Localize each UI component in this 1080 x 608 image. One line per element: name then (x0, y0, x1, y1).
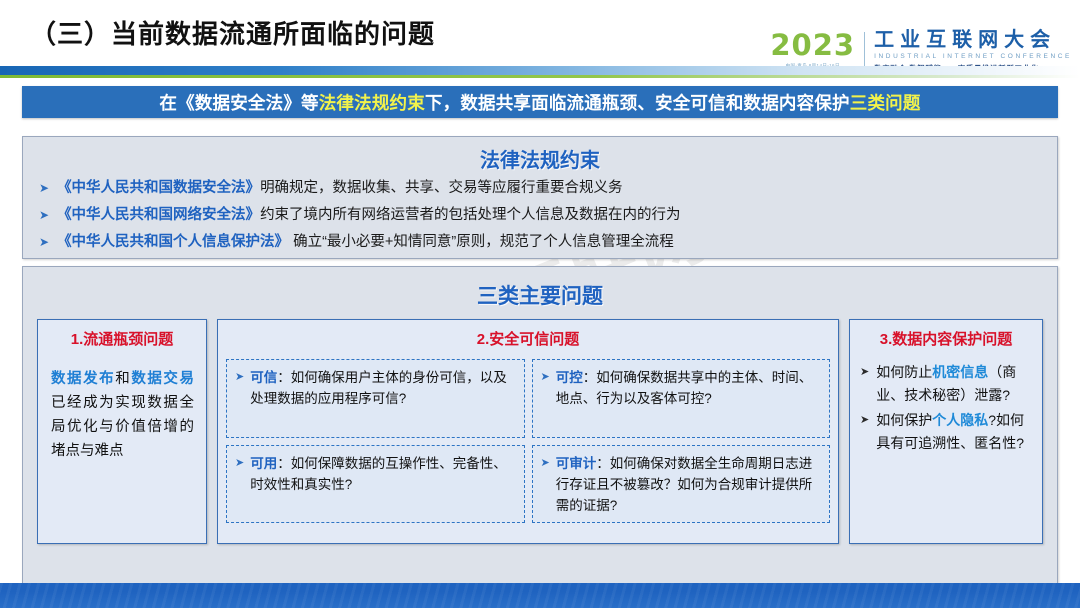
cell-key: 可信 (250, 370, 277, 385)
cell-key: 可用 (250, 456, 277, 471)
headline-banner: 在《数据安全法》等法律法规约束下，数据共享面临流通瓶颈、安全可信和数据内容保护三… (22, 86, 1058, 118)
r-highlight: 机密信息 (932, 364, 988, 380)
list-item: ➤ 《中华人民共和国个人信息保护法》 确立“最小必要+知情同意”原则，规范了个人… (39, 233, 1043, 251)
issues-columns: 1.流通瓶颈问题 数据发布和数据交易已经成为实现数据全局优化与价值倍增的堵点与难… (37, 319, 1043, 544)
chevron-right-icon: ➤ (860, 365, 869, 378)
r-pre: 如何防止 (876, 364, 932, 380)
issues-panel-title: 三类主要问题 (23, 280, 1057, 310)
headline-banner-text: 在《数据安全法》等法律法规约束下，数据共享面临流通瓶颈、安全可信和数据内容保护三… (159, 90, 920, 115)
cell-key: 可控 (556, 370, 583, 385)
chevron-right-icon: ➤ (39, 206, 49, 224)
r-pre: 如何保护 (876, 412, 932, 428)
page-title: （三）当前数据流通所面临的问题 (30, 14, 435, 51)
legal-list: ➤ 《中华人民共和国数据安全法》明确规定，数据收集、共享、交易等应履行重要合规义… (23, 179, 1057, 251)
list-item: ➤ 如何防止机密信息（商业、技术秘密）泄露? (860, 361, 1034, 407)
issue-column-content-protection: 3.数据内容保护问题 ➤ 如何防止机密信息（商业、技术秘密）泄露? ➤ 如何保护… (849, 319, 1043, 544)
security-trust-grid: ➤ 可信：如何确保用户主体的身份可信，以及处理数据的应用程序可信? ➤ 可控：如… (218, 353, 838, 531)
list-item: ➤ 如何保护个人隐私?如何具有可追溯性、匿名性? (860, 409, 1034, 455)
cell-text: ：如何确保数据共享中的主体、时间、地点、行为以及客体可控? (556, 370, 813, 406)
issue-column-heading: 1.流通瓶颈问题 (38, 320, 206, 353)
chevron-right-icon: ➤ (235, 456, 244, 469)
col1-highlight-2: 数据交易 (131, 371, 194, 387)
col1-mid: 和 (115, 371, 131, 387)
chevron-right-icon: ➤ (860, 413, 869, 426)
logo-year: 2023 (770, 30, 855, 60)
cell-key: 可审计 (556, 456, 597, 471)
security-cell-controllable: ➤ 可控：如何确保数据共享中的主体、时间、地点、行为以及客体可控? (532, 359, 831, 438)
chevron-right-icon: ➤ (541, 370, 550, 383)
top-gradient-bar (0, 66, 1080, 75)
col1-highlight-1: 数据发布 (51, 371, 115, 387)
legal-law-name: 《中华人民共和国个人信息保护法》 (57, 234, 289, 250)
banner-part1: 在《数据安全法》等 (159, 93, 318, 113)
cell-text: ：如何保障数据的互操作性、完备性、时效性和真实性? (250, 456, 507, 492)
slide-canvas: （三）当前数据流通所面临的问题 2023 中国·青岛 8月14日-16日 工业互… (0, 0, 1080, 608)
banner-highlight2: 三类问题 (850, 93, 921, 113)
issue-column-heading: 2.安全可信问题 (218, 320, 838, 353)
logo-name-cn: 工业互联网大会 (874, 30, 1072, 51)
legal-law-name: 《中华人民共和国数据安全法》 (57, 180, 260, 196)
issue-column-heading: 3.数据内容保护问题 (850, 320, 1042, 353)
legal-panel-title: 法律法规约束 (23, 144, 1057, 173)
top-green-bar (0, 75, 1080, 78)
chevron-right-icon: ➤ (541, 456, 550, 469)
issue-column-security-trust: 2.安全可信问题 ➤ 可信：如何确保用户主体的身份可信，以及处理数据的应用程序可… (217, 319, 839, 544)
content-protection-list: ➤ 如何防止机密信息（商业、技术秘密）泄露? ➤ 如何保护个人隐私?如何具有可追… (850, 353, 1042, 455)
col1-tail: 已经成为实现数据全局优化与价值倍增的堵点与难点 (51, 395, 194, 459)
security-cell-trustworthy: ➤ 可信：如何确保用户主体的身份可信，以及处理数据的应用程序可信? (226, 359, 525, 438)
banner-highlight1: 法律法规约束 (319, 93, 425, 113)
legal-regulations-panel: 法律法规约束 ➤ 《中华人民共和国数据安全法》明确规定，数据收集、共享、交易等应… (22, 136, 1058, 259)
legal-law-name: 《中华人民共和国网络安全法》 (57, 207, 260, 223)
logo-year-block: 2023 中国·青岛 8月14日-16日 (770, 30, 864, 69)
three-issues-panel: 三类主要问题 1.流通瓶颈问题 数据发布和数据交易已经成为实现数据全局优化与价值… (22, 266, 1058, 589)
issue-column-body: 数据发布和数据交易已经成为实现数据全局优化与价值倍增的堵点与难点 (38, 353, 206, 463)
logo-name-en: INDUSTRIAL INTERNET CONFERENCE (874, 53, 1072, 60)
security-cell-usable: ➤ 可用：如何保障数据的互操作性、完备性、时效性和真实性? (226, 445, 525, 524)
list-item: ➤ 《中华人民共和国数据安全法》明确规定，数据收集、共享、交易等应履行重要合规义… (39, 179, 1043, 197)
security-cell-auditable: ➤ 可审计：如何确保对数据全生命周期日志进行存证且不被篡改？如何为合规审计提供所… (532, 445, 831, 524)
list-item: ➤ 《中华人民共和国网络安全法》约束了境内所有网络运营者的包括处理个人信息及数据… (39, 206, 1043, 224)
chevron-right-icon: ➤ (235, 370, 244, 383)
r-highlight: 个人隐私 (932, 412, 988, 428)
chevron-right-icon: ➤ (39, 179, 49, 197)
chevron-right-icon: ➤ (39, 233, 49, 251)
footer-band (0, 583, 1080, 608)
legal-law-desc: 约束了境内所有网络运营者的包括处理个人信息及数据在内的行为 (260, 207, 681, 223)
issue-column-circulation: 1.流通瓶颈问题 数据发布和数据交易已经成为实现数据全局优化与价值倍增的堵点与难… (37, 319, 207, 544)
legal-law-desc: 明确规定，数据收集、共享、交易等应履行重要合规义务 (260, 180, 623, 196)
banner-part2: 下，数据共享面临流通瓶颈、安全可信和数据内容保护 (425, 93, 850, 113)
legal-law-desc: 确立“最小必要+知情同意”原则，规范了个人信息管理全流程 (289, 234, 674, 250)
cell-text: ：如何确保用户主体的身份可信，以及处理数据的应用程序可信? (250, 370, 507, 406)
